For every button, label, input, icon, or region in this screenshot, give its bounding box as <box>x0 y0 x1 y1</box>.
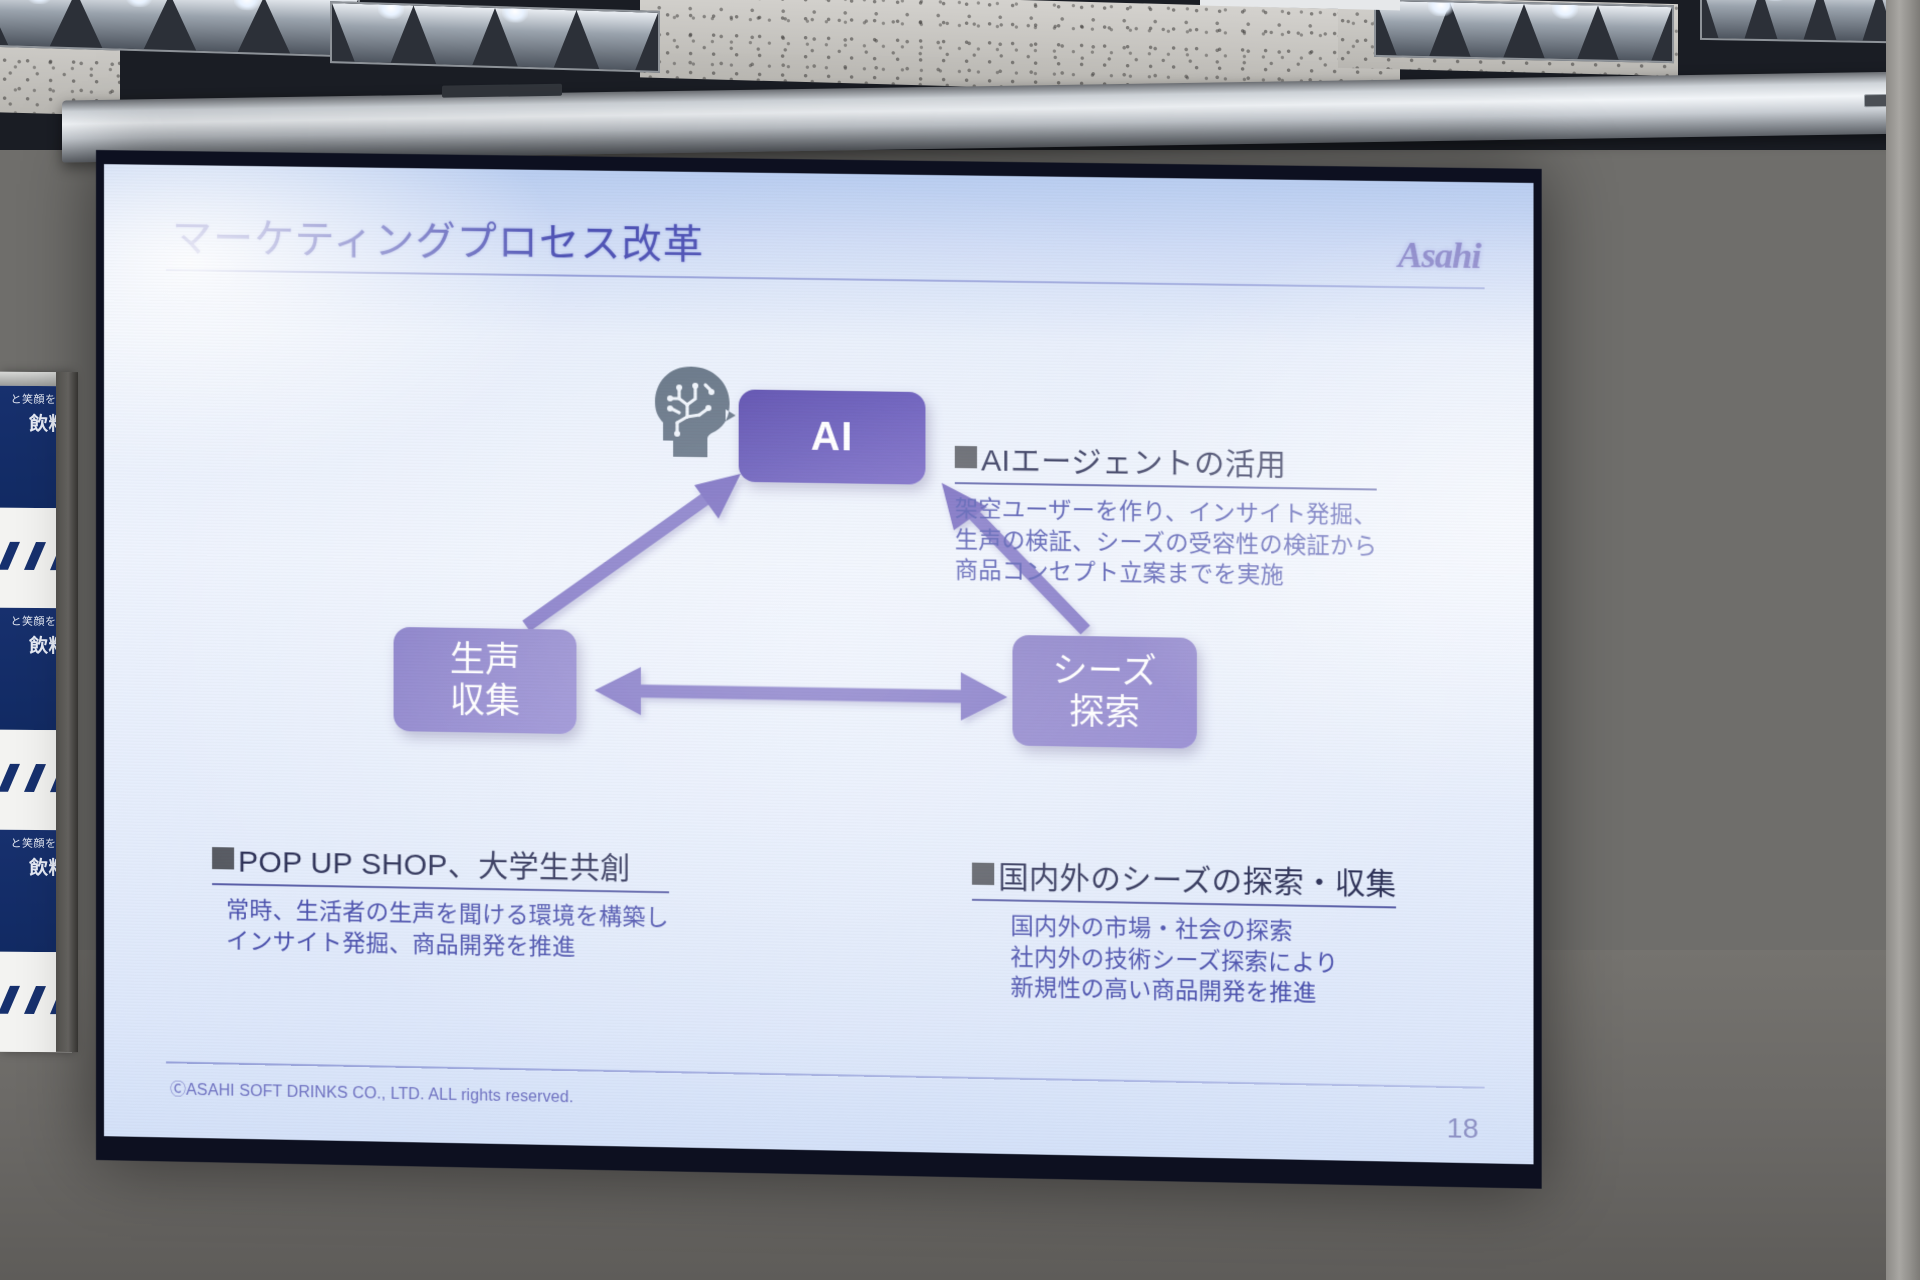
callout-right-heading-text: 国内外のシーズの探索・収集 <box>998 852 1396 903</box>
copyright-text: ⒸASAHI SOFT DRINKS CO., LTD. ALL rights … <box>170 1075 573 1107</box>
presentation-slide: マーケティングプロセス改革 Asahi <box>104 164 1534 1164</box>
ceiling-light-fixture <box>330 1 660 73</box>
callout-ai-heading: AIエージェントの活用 <box>955 435 1377 491</box>
node-right-label-1: シーズ <box>1052 649 1157 692</box>
bullet-square-icon <box>955 446 977 468</box>
projection-screen: マーケティングプロセス改革 Asahi <box>96 150 1542 1189</box>
roller-bracket <box>442 84 562 98</box>
asahi-logo: Asahi <box>1398 234 1481 278</box>
callout-ai-body: 架空ユーザーを作り、インサイト発掘、 生声の検証、シーズの受容性の検証から 商品… <box>955 493 1377 592</box>
page-number: 18 <box>1447 1112 1479 1145</box>
diagram-arrows <box>104 164 1534 1164</box>
callout-ai-heading-text: AIエージェントの活用 <box>981 435 1286 484</box>
bullet-square-icon <box>212 847 234 869</box>
brain-circuit-head-icon <box>649 364 738 466</box>
bullet-square-icon <box>972 863 994 886</box>
node-ai-label: AI <box>811 414 853 460</box>
node-right-label-2: 探索 <box>1069 691 1140 734</box>
callout-left-heading: POP UP SHOP、大学生共創 <box>212 836 669 893</box>
callout-seeds-search: 国内外のシーズの探索・収集 国内外の市場・社会の探索 社内外の技術シーズ探索によ… <box>972 852 1396 1011</box>
node-ai[interactable]: AI <box>739 389 926 484</box>
callout-ai-line-3: 商品コンセプト立案までを実施 <box>955 555 1377 592</box>
callout-ai-agent: AIエージェントの活用 架空ユーザーを作り、インサイト発掘、 生声の検証、シーズ… <box>955 435 1377 592</box>
arrow-left-to-ai <box>526 471 741 630</box>
callout-left-body: 常時、生活者の生声を聞ける環境を構築し インサイト発掘、商品開発を推進 <box>212 894 669 964</box>
arrow-left-right-double <box>595 666 1008 721</box>
banner-frame-edge <box>56 372 78 1052</box>
callout-pop-up-shop: POP UP SHOP、大学生共創 常時、生活者の生声を聞ける環境を構築し イン… <box>212 836 669 964</box>
page-title: マーケティングプロセス改革 <box>172 205 704 270</box>
callout-right-heading: 国内外のシーズの探索・収集 <box>972 852 1396 909</box>
ceiling-light-fixture <box>1374 0 1674 63</box>
node-left-label-2: 収集 <box>450 680 520 723</box>
node-voice-collection[interactable]: 生声 収集 <box>394 627 577 734</box>
callout-right-line-3: 新規性の高い商品開発を推進 <box>1010 972 1396 1010</box>
callout-right-body: 国内外の市場・社会の探索 社内外の技術シーズ探索により 新規性の高い商品開発を推… <box>972 910 1396 1010</box>
wall-right-edge <box>1886 0 1920 1280</box>
callout-left-heading-text: POP UP SHOP、大学生共創 <box>238 837 630 888</box>
node-seeds-search[interactable]: シーズ 探索 <box>1012 635 1196 749</box>
node-left-label-1: 生声 <box>450 638 520 681</box>
room-background: と笑顔を。 飲料 と笑顔を。 飲料 と笑顔を。 飲料 <box>0 0 1920 1280</box>
header-divider <box>166 269 1485 289</box>
